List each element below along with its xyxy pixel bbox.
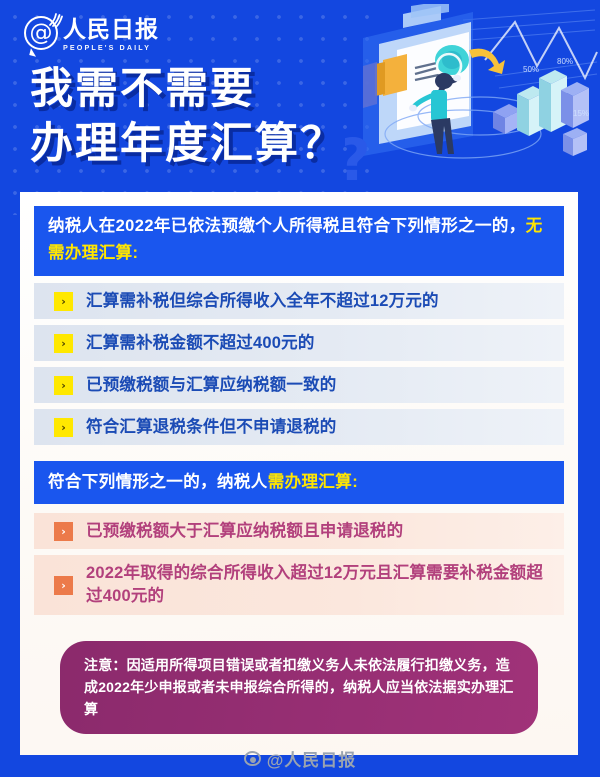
page-title-line-1: 我需不需要 xyxy=(30,62,345,117)
footer-credit: @人民日报 xyxy=(0,746,600,771)
chevron-right-icon: › xyxy=(54,522,73,541)
list-item-label: 汇算需补税金额不超过400元的 xyxy=(86,332,325,355)
hero-question-mark: ? xyxy=(345,126,371,194)
list-item-label: 2022年取得的综合所得收入超过12万元且汇算需要补税金额超过400元的 xyxy=(86,562,564,608)
chevron-right-icon: › xyxy=(54,292,73,311)
list-item: › 已预缴税额与汇算应纳税额一致的 xyxy=(34,367,564,403)
list-item-label: 已预缴税额与汇算应纳税额一致的 xyxy=(86,374,347,397)
section-head-prefix-1: 纳税人在2022年已依法预缴个人所得税且符合下列情形之一的， xyxy=(48,217,526,235)
content-card: 纳税人在2022年已依法预缴个人所得税且符合下列情形之一的，无需办理汇算: › … xyxy=(20,192,578,755)
signal-wave-icon xyxy=(47,12,63,28)
poster-root: @ 人民日报 PEOPLE'S DAILY 我需不需要 办理年度汇算？ xyxy=(0,0,600,777)
chevron-right-icon: › xyxy=(54,334,73,353)
brand-name-en: PEOPLE'S DAILY xyxy=(63,43,159,52)
brand-text-block: 人民日报 PEOPLE'S DAILY xyxy=(63,16,159,52)
page-title: 我需不需要 办理年度汇算？ xyxy=(30,62,345,172)
hero-chart-label-2: 15% xyxy=(573,109,589,118)
list-item-label: 汇算需补税但综合所得收入全年不超过12万元的 xyxy=(86,290,449,313)
footer-handle: @人民日报 xyxy=(267,746,357,771)
section-head-no-need: 纳税人在2022年已依法预缴个人所得税且符合下列情形之一的，无需办理汇算: xyxy=(34,206,564,276)
at-sign-speaker-icon: @ xyxy=(24,16,58,50)
chevron-right-icon: › xyxy=(54,418,73,437)
list-item-label: 已预缴税额大于汇算应纳税额且申请退税的 xyxy=(86,520,413,543)
isometric-analytics-dashboard-illustration: 50% 80% 15% ? xyxy=(345,4,600,194)
chevron-right-icon: › xyxy=(54,576,73,595)
page-title-line-2: 办理年度汇算？ xyxy=(30,117,345,172)
list-item-label: 符合汇算退税条件但不申请退税的 xyxy=(86,416,347,439)
speaker-stem-icon xyxy=(29,48,37,56)
note-box: 注意：因适用所得项目错误或者扣缴义务人未依法履行扣缴义务，造成2022年少申报或… xyxy=(60,641,538,734)
list-no-need: › 汇算需补税但综合所得收入全年不超过12万元的 › 汇算需补税金额不超过400… xyxy=(34,283,564,445)
list-item: › 已预缴税额大于汇算应纳税额且申请退税的 xyxy=(34,513,564,549)
list-item: › 汇算需补税但综合所得收入全年不超过12万元的 xyxy=(34,283,564,319)
chevron-right-icon: › xyxy=(54,376,73,395)
list-item: › 符合汇算退税条件但不申请退税的 xyxy=(34,409,564,445)
hero-chart-label-0: 50% xyxy=(523,65,539,74)
masthead-logo: @ 人民日报 PEOPLE'S DAILY xyxy=(24,16,159,52)
weibo-eye-icon xyxy=(244,751,261,766)
list-item: › 2022年取得的综合所得收入超过12万元且汇算需要补税金额超过400元的 xyxy=(34,555,564,615)
section-head-prefix-2: 符合下列情形之一的，纳税人 xyxy=(48,473,268,491)
brand-name-cn: 人民日报 xyxy=(63,17,159,41)
list-need: › 已预缴税额大于汇算应纳税额且申请退税的 › 2022年取得的综合所得收入超过… xyxy=(34,513,564,615)
section-head-need: 符合下列情形之一的，纳税人需办理汇算: xyxy=(34,461,564,504)
section-head-highlight-2: 需办理汇算: xyxy=(268,473,358,491)
list-item: › 汇算需补税金额不超过400元的 xyxy=(34,325,564,361)
hero-chart-label-1: 80% xyxy=(557,57,573,66)
